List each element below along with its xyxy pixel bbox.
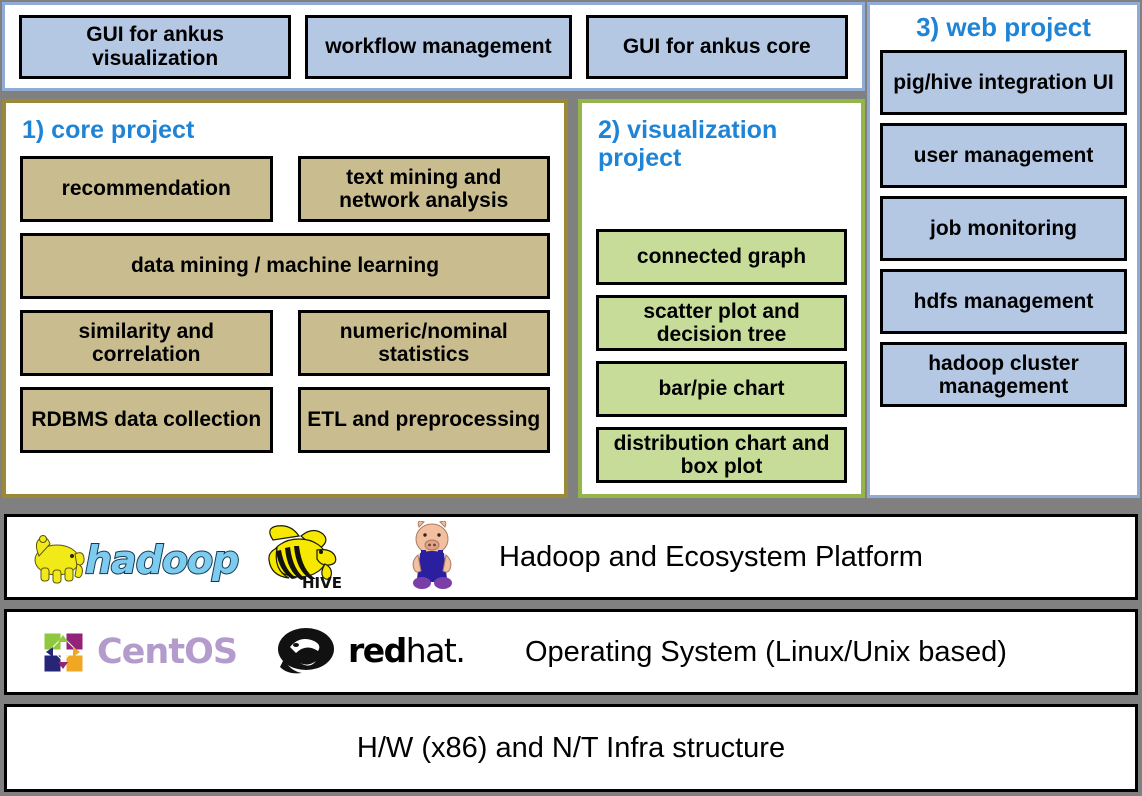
- gui-box-ankus-visualization[interactable]: GUI for ankus visualization: [19, 15, 291, 79]
- pig-logo: [397, 521, 467, 593]
- hive-logo-wordmark: HIVE: [302, 574, 342, 592]
- core-project-panel: 1) core project recommendation text mini…: [2, 99, 568, 498]
- gui-strip-panel: GUI for ankus visualization workflow man…: [2, 2, 865, 91]
- core-box-similarity-correlation[interactable]: similarity and correlation: [20, 310, 273, 376]
- core-project-row-2: similarity and correlation numeric/nomin…: [20, 310, 550, 376]
- web-project-panel: 3) web project pig/hive integration UI u…: [867, 2, 1140, 498]
- redhat-word-red: red: [348, 631, 406, 670]
- hadoop-platform-row: hadoop: [4, 514, 1138, 600]
- hardware-row-label: H/W (x86) and N/T Infra structure: [357, 732, 785, 765]
- viz-box-distribution-chart-box-plot[interactable]: distribution chart and box plot: [596, 427, 847, 483]
- hadoop-logo: hadoop: [27, 526, 227, 588]
- core-box-recommendation[interactable]: recommendation: [20, 156, 273, 222]
- core-box-numeric-nominal-statistics[interactable]: numeric/nominal statistics: [298, 310, 551, 376]
- viz-box-connected-graph[interactable]: connected graph: [596, 229, 847, 285]
- platform-logo-strip: hadoop: [7, 521, 467, 593]
- gui-box-workflow-management[interactable]: workflow management: [305, 15, 571, 79]
- web-box-pig-hive-integration-ui[interactable]: pig/hive integration UI: [880, 50, 1127, 115]
- core-box-etl-preprocessing[interactable]: ETL and preprocessing: [298, 387, 551, 453]
- centos-logo: CentOS: [35, 624, 230, 680]
- visualization-project-panel: 2) visualization project connected graph…: [578, 99, 865, 498]
- web-box-hadoop-cluster-management[interactable]: hadoop cluster management: [880, 342, 1127, 407]
- platform-row-label: Hadoop and Ecosystem Platform: [499, 541, 923, 574]
- web-box-hdfs-management[interactable]: hdfs management: [880, 269, 1127, 334]
- core-project-title: 1) core project: [22, 116, 550, 144]
- web-project-title: 3) web project: [880, 13, 1127, 42]
- redhat-logo-wordmark: redhat.: [348, 631, 464, 670]
- redhat-logo: redhat.: [270, 623, 485, 681]
- visualization-project-list: connected graph scatter plot and decisio…: [596, 229, 847, 483]
- centos-logo-wordmark: CentOS: [97, 632, 237, 672]
- web-box-job-monitoring[interactable]: job monitoring: [880, 196, 1127, 261]
- gui-box-ankus-core[interactable]: GUI for ankus core: [586, 15, 848, 79]
- os-logo-strip: CentOS redhat.: [7, 623, 485, 681]
- os-row-label: Operating System (Linux/Unix based): [525, 636, 1007, 669]
- core-project-row-3: RDBMS data collection ETL and preprocess…: [20, 387, 550, 453]
- viz-box-bar-pie-chart[interactable]: bar/pie chart: [596, 361, 847, 417]
- core-project-row-1: recommendation text mining and network a…: [20, 156, 550, 222]
- hadoop-logo-wordmark: hadoop: [85, 538, 238, 582]
- redhat-word-hat: hat.: [406, 631, 465, 670]
- core-box-rdbms-data-collection[interactable]: RDBMS data collection: [20, 387, 273, 453]
- hive-logo: HIVE: [255, 522, 345, 592]
- web-project-list: pig/hive integration UI user management …: [880, 50, 1127, 407]
- architecture-top-area: GUI for ankus visualization workflow man…: [0, 0, 1142, 510]
- core-box-text-mining-network-analysis[interactable]: text mining and network analysis: [298, 156, 551, 222]
- viz-box-scatter-plot-decision-tree[interactable]: scatter plot and decision tree: [596, 295, 847, 351]
- web-box-user-management[interactable]: user management: [880, 123, 1127, 188]
- core-box-data-mining-machine-learning[interactable]: data mining / machine learning: [20, 233, 550, 299]
- hardware-row: H/W (x86) and N/T Infra structure: [4, 704, 1138, 792]
- visualization-project-title: 2) visualization project: [598, 116, 847, 172]
- operating-system-row: CentOS redhat. Operating System (Linux/U…: [4, 609, 1138, 695]
